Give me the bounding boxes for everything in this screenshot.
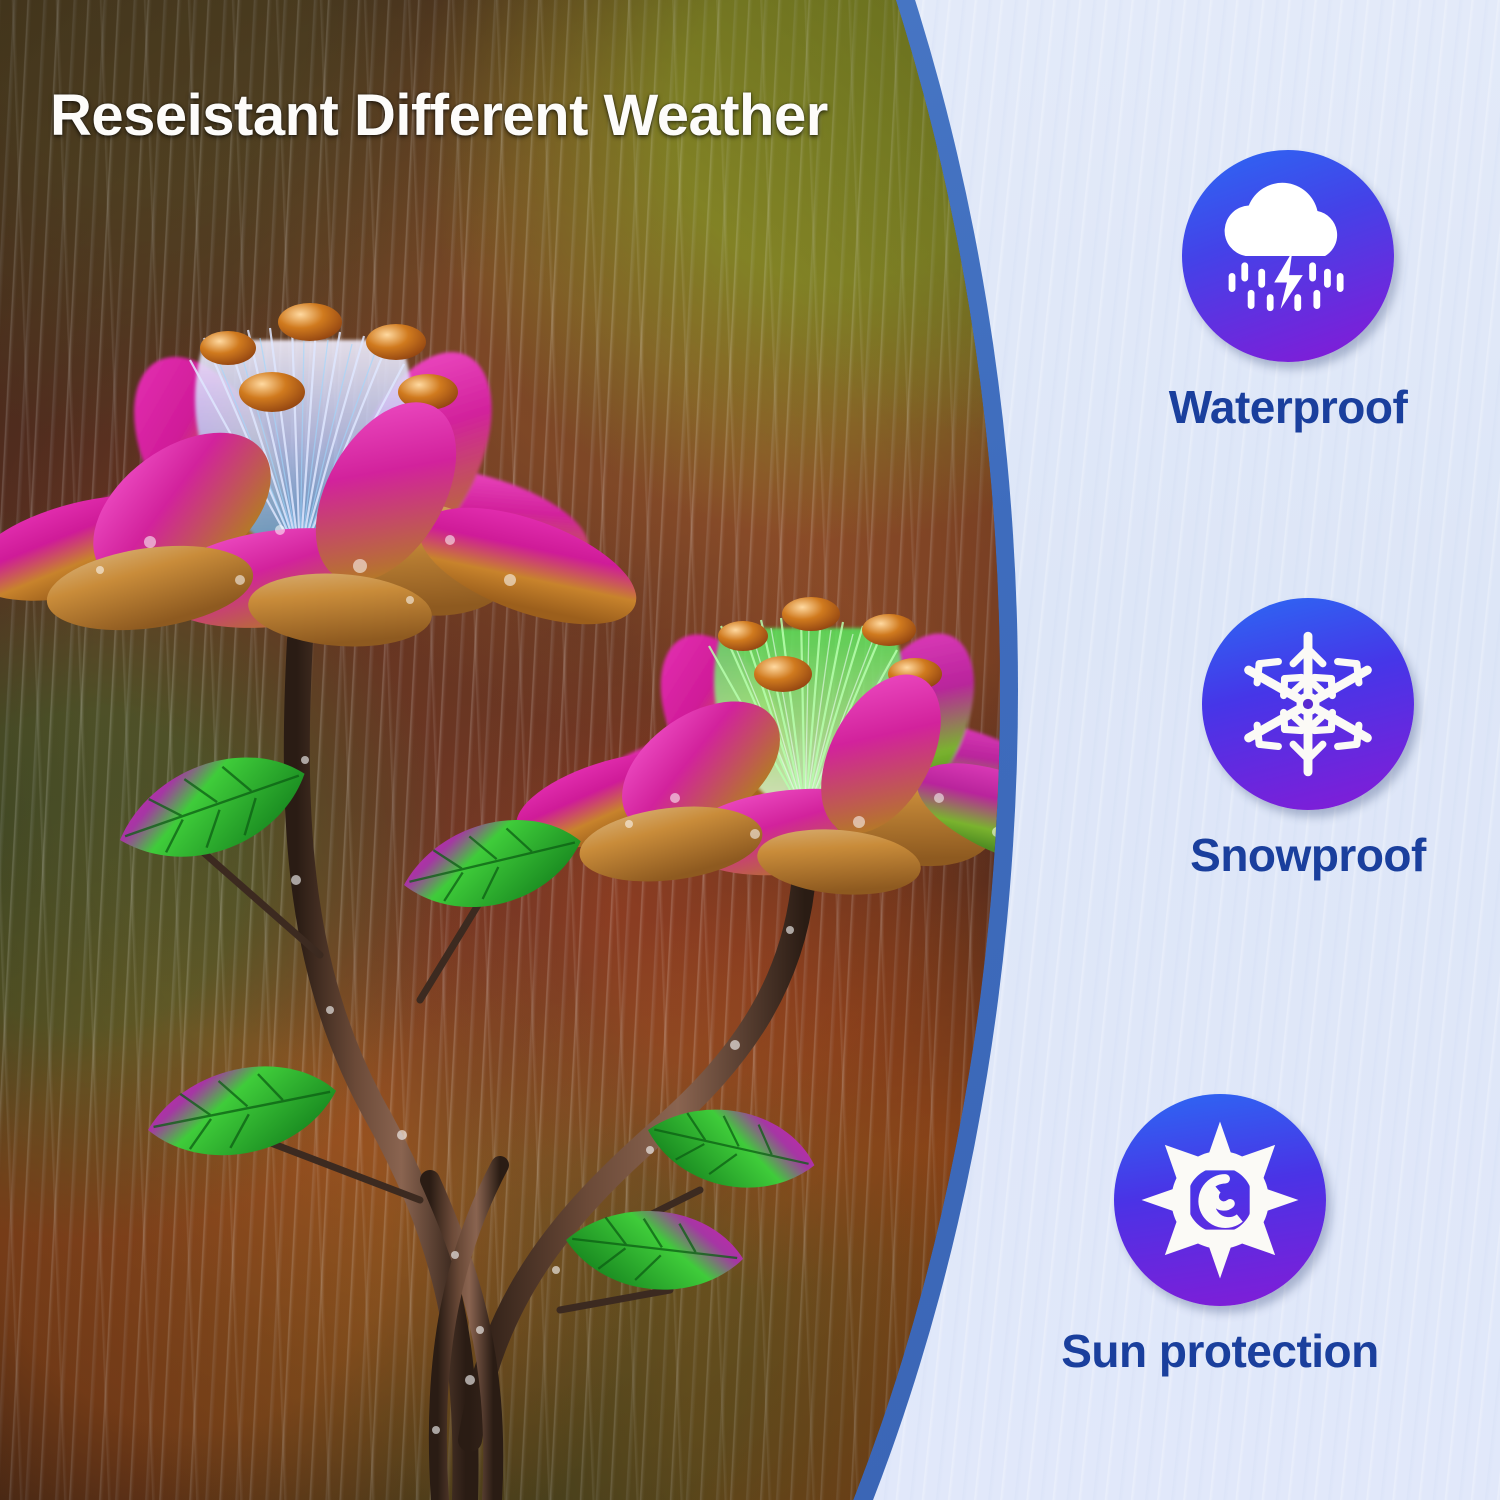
sun-protection-badge[interactable] [1114, 1094, 1326, 1306]
rain-cloud-lightning-icon [1182, 150, 1394, 362]
sun-spiral-icon [1114, 1094, 1326, 1306]
feature-snowproof[interactable]: Snowproof [1098, 598, 1500, 882]
flower-blue [0, 303, 651, 652]
solar-flower-stake-artwork [0, 0, 1075, 1500]
feature-waterproof[interactable]: Waterproof [1078, 150, 1498, 434]
snowproof-badge[interactable] [1202, 598, 1414, 810]
snowflake-icon [1202, 598, 1414, 810]
product-photo [0, 0, 1075, 1500]
page-title: Reseistant Different Weather [50, 82, 828, 149]
feature-label: Sun protection [1010, 1324, 1430, 1378]
product-feature-image: Reseistant Different Weather [0, 0, 1500, 1500]
waterproof-badge[interactable] [1182, 150, 1394, 362]
feature-sun-protection[interactable]: Sun protection [1010, 1094, 1430, 1378]
flower-green [506, 597, 1075, 901]
feature-label: Snowproof [1098, 828, 1500, 882]
feature-label: Waterproof [1078, 380, 1498, 434]
